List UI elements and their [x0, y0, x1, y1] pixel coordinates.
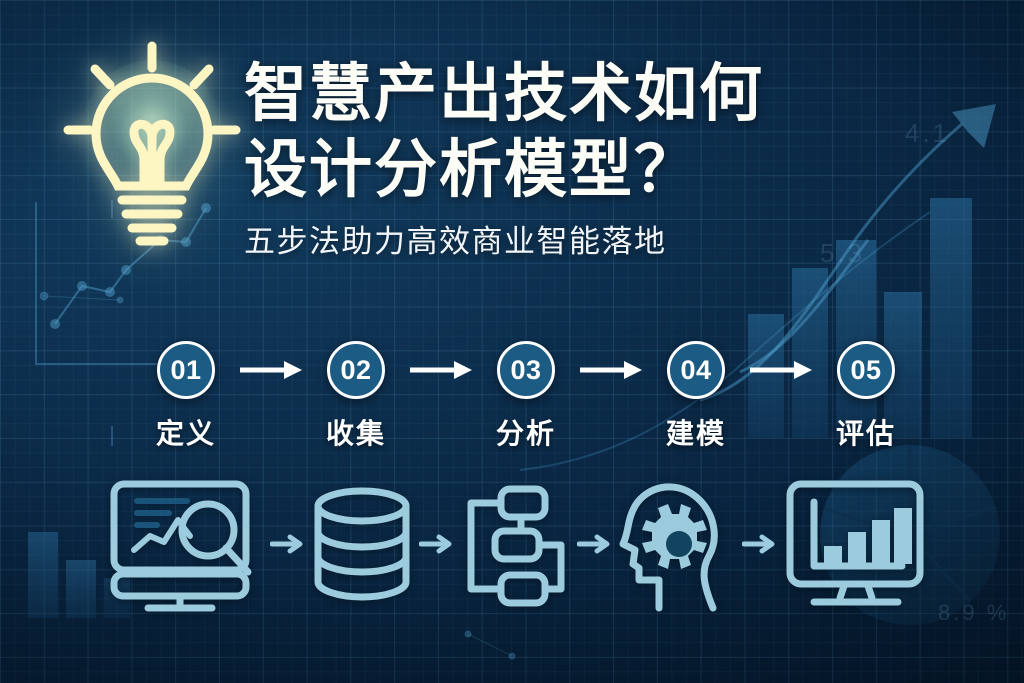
- step-label: 评估: [836, 412, 896, 452]
- page-title-line-2: 设计分析模型？: [244, 132, 904, 208]
- step-number-badge[interactable]: 03: [497, 341, 555, 399]
- page-title-line-1: 智慧产出技术如何: [244, 56, 904, 132]
- header-text-block: 智慧产出技术如何 设计分析模型？ 五步法助力高效商业智能落地: [244, 56, 904, 262]
- arrow-right-icon-1: [232, 341, 310, 399]
- step-item-01[interactable]: 01 定义: [140, 341, 232, 452]
- database-cylinder-icon: [310, 484, 414, 604]
- lightbulb-icon: [52, 34, 252, 260]
- monitor-bar-chart-icon: [782, 474, 928, 614]
- arrow-right-small-icon-4: [737, 534, 783, 554]
- step-number-badge[interactable]: 01: [157, 341, 215, 399]
- step-label: 收集: [326, 412, 386, 452]
- bg-faint-number-right: 4.1: [905, 118, 950, 149]
- step-label: 定义: [156, 412, 216, 452]
- arrow-right-icon-3: [572, 341, 650, 399]
- step-flow: 01 定义 02 收集 03 分析: [140, 341, 912, 451]
- bg-percent-label: 8.9 %: [938, 600, 1009, 626]
- step-item-04[interactable]: 04 建模: [650, 341, 742, 452]
- arrow-right-small-icon-1: [264, 534, 310, 554]
- arrow-right-icon-2: [402, 341, 480, 399]
- step-item-03[interactable]: 03 分析: [480, 341, 572, 452]
- head-gear-icon: [617, 472, 737, 616]
- icon-flow: [104, 468, 928, 620]
- page-subtitle: 五步法助力高效商业智能落地: [244, 222, 904, 262]
- step-number-badge[interactable]: 05: [837, 341, 895, 399]
- step-label: 分析: [496, 412, 556, 452]
- step-number-badge[interactable]: 04: [667, 341, 725, 399]
- arrow-right-small-icon-3: [571, 534, 617, 554]
- step-label: 建模: [666, 412, 726, 452]
- arrow-right-small-icon-2: [414, 534, 460, 554]
- step-item-02[interactable]: 02 收集: [310, 341, 402, 452]
- arrow-right-icon-4: [742, 341, 820, 399]
- step-item-05[interactable]: 05 评估: [820, 341, 912, 452]
- poster-canvas: 4.1 5.3 8.9 %: [0, 0, 1024, 683]
- monitor-chart-search-icon: [104, 474, 264, 614]
- flowchart-icon: [459, 481, 571, 607]
- step-number-badge[interactable]: 02: [327, 341, 385, 399]
